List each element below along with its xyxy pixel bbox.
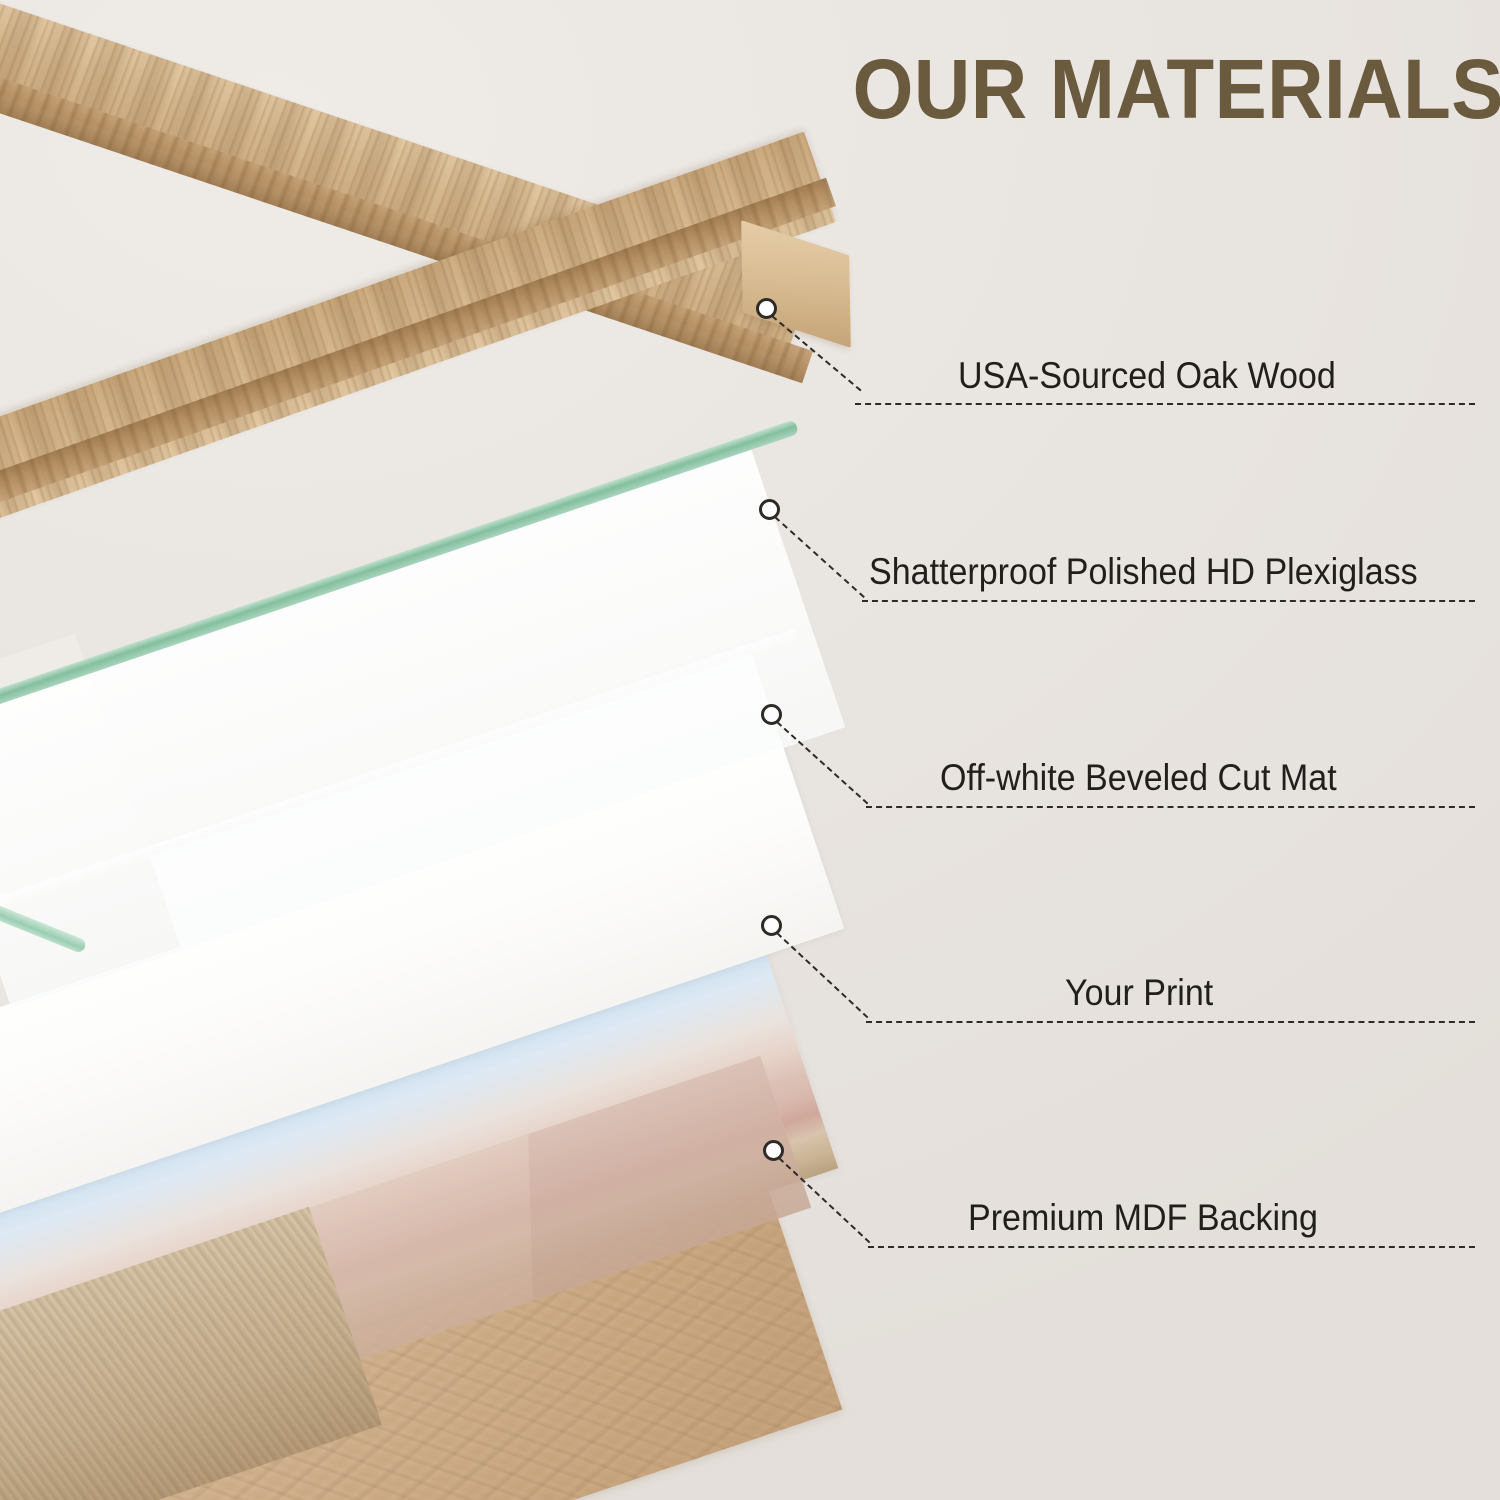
callout-dot-oak[interactable] [756, 298, 777, 319]
product-illustration [0, 0, 860, 1500]
callout-rule-mdf [868, 1246, 1475, 1248]
callout-label-oak: USA-Sourced Oak Wood [958, 355, 1336, 397]
callout-label-mdf: Premium MDF Backing [968, 1197, 1318, 1239]
callout-rule-oak [855, 403, 1475, 405]
callout-dot-mdf[interactable] [763, 1140, 784, 1161]
page-title: OUR MATERIALS [853, 45, 1485, 133]
callout-dot-plexiglass[interactable] [759, 499, 780, 520]
callout-rule-plexiglass [862, 600, 1475, 602]
callout-dot-mat[interactable] [761, 704, 782, 725]
infographic-canvas: OUR MATERIALS USA-Sourced Oak Wood Shatt… [0, 0, 1500, 1500]
callout-dot-print[interactable] [761, 915, 782, 936]
callout-label-print: Your Print [1065, 972, 1213, 1014]
callout-rule-mat [866, 806, 1475, 808]
callout-rule-print [866, 1021, 1475, 1023]
callout-label-plexiglass: Shatterproof Polished HD Plexiglass [869, 551, 1418, 593]
callout-label-mat: Off-white Beveled Cut Mat [940, 757, 1337, 799]
